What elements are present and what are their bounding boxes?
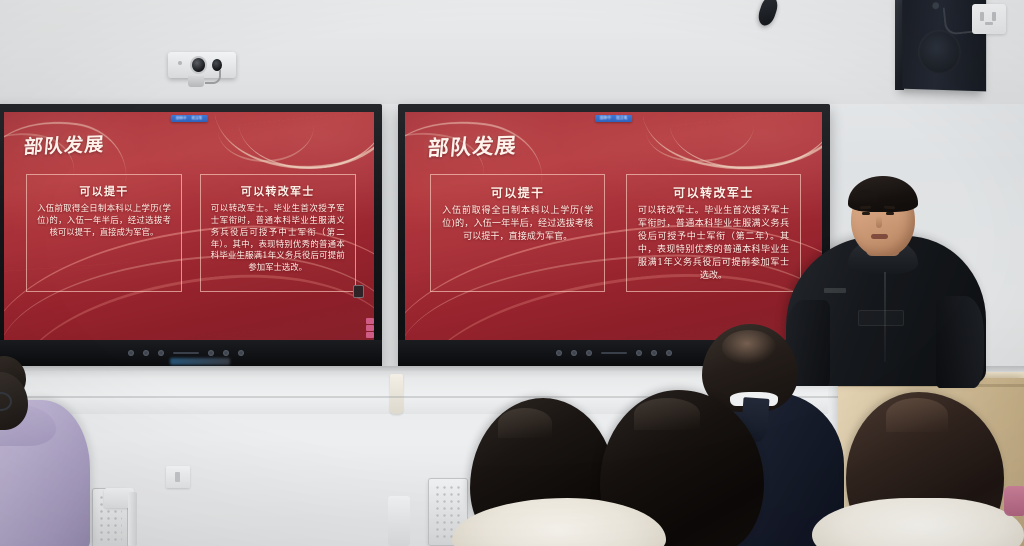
toolbar-button[interactable] <box>366 318 374 324</box>
display-button[interactable] <box>571 350 577 356</box>
display-button[interactable] <box>143 350 149 356</box>
display-button[interactable] <box>158 350 164 356</box>
slide-card: 可以提干 入伍前取得全日制本科以上学历(学位)的，入伍一年半后，经过选拔考核可以… <box>430 174 605 293</box>
display-brand-logo <box>170 358 230 365</box>
slide-side-toolbar[interactable] <box>366 318 374 338</box>
presenter-mouth <box>871 234 888 239</box>
presenter-jacket-pocket <box>858 310 904 326</box>
slide-card-group: 可以提干 入伍前取得全日制本科以上学历(学位)的，入伍一年半后，经过选拔考核可以… <box>430 174 801 293</box>
speaker-cone <box>918 30 961 75</box>
power-outlet-upper <box>972 4 1006 34</box>
camera-indicator-led <box>178 61 182 65</box>
ceiling-camera-icon <box>168 52 236 78</box>
display-sensor-strip <box>601 352 627 354</box>
slide-card-body: 可以转改军士。毕业生首次授予军士军衔时，普通本科毕业生服满义务兵役后可授予中士军… <box>638 205 789 282</box>
slide-title: 部队发展 <box>426 130 518 163</box>
power-outlet-lower <box>166 466 190 488</box>
display-button[interactable] <box>223 350 229 356</box>
presentation-toolbar-badge[interactable]: 放映中 批注笔 <box>171 115 208 122</box>
slide-decoration-ribbon <box>8 258 374 340</box>
toolbar-button[interactable] <box>366 332 374 338</box>
slide-title: 部队发展 <box>23 130 106 160</box>
presenter-arm-right <box>936 296 984 388</box>
badge-label-left: 放映中 <box>176 116 187 121</box>
attendee-3-bag-strap <box>1004 486 1024 516</box>
display-button[interactable] <box>666 350 672 356</box>
display-button[interactable] <box>128 350 134 356</box>
attendee-suit-scalp <box>722 330 776 364</box>
toolbar-button[interactable] <box>366 325 374 331</box>
desk-support-post <box>388 496 410 546</box>
dual-display-wall: 放映中 批注笔 部队发展 可以提干 入伍前取得全日制本科以上学历(学位)的，入伍… <box>0 104 828 376</box>
badge-label-right: 批注笔 <box>192 116 203 121</box>
speaker-tweeter <box>932 2 939 9</box>
wall-upper-band <box>0 0 1024 104</box>
presenter-eye-left <box>862 212 870 215</box>
display-button[interactable] <box>208 350 214 356</box>
presentation-toolbar-badge[interactable]: 放映中 批注笔 <box>595 115 633 122</box>
slide-card: 可以转改军士 可以转改军士。毕业生首次授予军士军衔时，普通本科毕业生服满义务兵役… <box>200 174 356 293</box>
slide-card-body: 可以转改军士。毕业生首次授予军士军衔时，普通本科毕业生服满义务兵役后可授予中士军… <box>211 203 345 275</box>
display-button[interactable] <box>636 350 642 356</box>
outlet-slot <box>175 472 180 482</box>
badge-label-left: 放映中 <box>600 116 611 121</box>
display-sensor-strip <box>173 352 199 354</box>
slide-card-heading: 可以转改军士 <box>241 183 315 199</box>
display-button[interactable] <box>651 350 657 356</box>
camera-lens-icon <box>192 58 205 72</box>
display-button[interactable] <box>556 350 562 356</box>
slide-card-heading: 可以提干 <box>491 184 545 201</box>
slide-card-heading: 可以转改军士 <box>673 184 754 201</box>
whiteboard-marker-holder <box>390 374 403 414</box>
left-display-control-bar[interactable] <box>0 340 382 366</box>
presentation-slide: 放映中 批注笔 部队发展 可以提干 入伍前取得全日制本科以上学历(学位)的，入伍… <box>4 112 374 340</box>
badge-label-right: 批注笔 <box>616 116 627 121</box>
display-button[interactable] <box>238 350 244 356</box>
slide-card-group: 可以提干 入伍前取得全日制本科以上学历(学位)的，入伍一年半后，经过选拔考核可以… <box>26 174 355 293</box>
outlet-slot <box>985 22 993 25</box>
presenter-eye-right <box>886 212 894 215</box>
desk-support-post <box>128 492 137 546</box>
lecture-hall-scene: 放映中 批注笔 部队发展 可以提干 入伍前取得全日制本科以上学历(学位)的，入伍… <box>0 0 1024 546</box>
left-display-panel[interactable]: 放映中 批注笔 部队发展 可以提干 入伍前取得全日制本科以上学历(学位)的，入伍… <box>4 112 374 340</box>
slide-card-body: 入伍前取得全日制本科以上学历(学位)的，入伍一年半后，经过选拔考核可以提干，直接… <box>442 205 593 244</box>
display-button[interactable] <box>586 350 592 356</box>
outlet-slot <box>980 12 984 21</box>
outlet-slot <box>992 12 996 21</box>
right-display-panel[interactable]: 放映中 批注笔 部队发展 可以提干 入伍前取得全日制本科以上学历(学位)的，入伍… <box>405 112 822 340</box>
camera-mount <box>188 76 204 87</box>
slide-card-heading: 可以提干 <box>79 183 128 199</box>
slide-card: 可以提干 入伍前取得全日制本科以上学历(学位)的，入伍一年半后，经过选拔考核可以… <box>26 174 182 293</box>
slide-overlay-badge[interactable] <box>353 285 364 298</box>
presenter-jacket-tag <box>824 288 846 293</box>
slide-card: 可以转改军士 可以转改军士。毕业生首次授予军士军衔时，普通本科毕业生服满义务兵役… <box>626 174 801 293</box>
left-display[interactable]: 放映中 批注笔 部队发展 可以提干 入伍前取得全日制本科以上学历(学位)的，入伍… <box>0 104 382 366</box>
presenter-nose <box>876 216 882 228</box>
presentation-slide: 放映中 批注笔 部队发展 可以提干 入伍前取得全日制本科以上学历(学位)的，入伍… <box>405 112 822 340</box>
slide-card-body: 入伍前取得全日制本科以上学历(学位)的，入伍一年半后，经过选拔考核可以提干，直接… <box>37 203 171 239</box>
